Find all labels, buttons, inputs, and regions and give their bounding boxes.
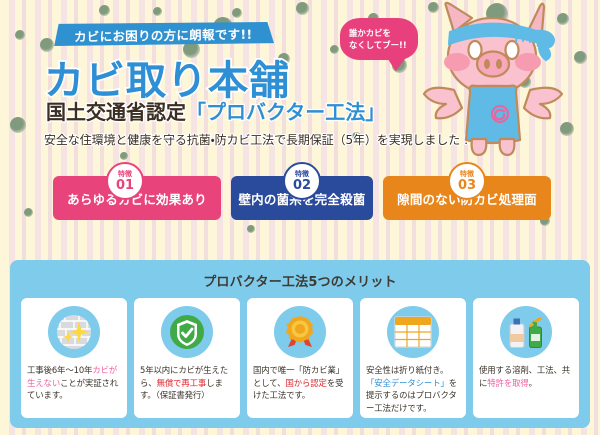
mold-spot — [24, 208, 33, 217]
merit-text-highlight: 無償で再工事 — [157, 378, 207, 388]
hero-ribbon: カビにお困りの方に朗報です!! — [52, 22, 274, 46]
merit-card[interactable]: 国内で唯一「防カビ業」として、国から認定を受けた工法です。 — [247, 298, 353, 418]
speech-bubble-line-2: なくしてブー!! — [349, 39, 407, 51]
merit-text: 国内で唯一「防カビ業」として、国から認定を受けた工法です。 — [253, 364, 347, 402]
mold-spot — [15, 30, 25, 40]
merit-card[interactable]: 使用する溶剤、工法、共に特許を取得。 — [473, 298, 579, 418]
brick-wall-sparkle-icon — [48, 306, 100, 358]
feature-badge-word-01: 特徴 — [118, 171, 132, 178]
pig-mascot-icon — [420, 0, 570, 158]
feature-box-01[interactable]: 特徴 01 あらゆるカビに効果あり — [53, 176, 221, 220]
merits-panel: プロバクター工法5つのメリット — [10, 260, 590, 428]
mold-spot — [99, 5, 110, 16]
feature-badge-number-01: 01 — [116, 179, 134, 192]
mold-spot — [120, 152, 128, 160]
feature-badge-01: 特徴 01 — [106, 162, 144, 200]
merit-text-part: 工事後6年〜10年 — [27, 365, 92, 375]
mold-spot — [153, 7, 162, 16]
feature-box-03[interactable]: 特徴 03 隙間のない防カビ処理面 — [383, 176, 551, 220]
merit-text-highlight: 国から認定 — [285, 378, 326, 388]
merit-text: 使用する溶剤、工法、共に特許を取得。 — [479, 364, 573, 389]
ribbon-shape: カビにお困りの方に朗報です!! — [52, 22, 274, 46]
mold-spot — [232, 8, 242, 18]
merit-card[interactable]: 工事後6年〜10年カビが生えないことが実証されています。 — [21, 298, 127, 418]
feature-badge-number-02: 02 — [293, 179, 311, 192]
lead-copy: 安全な住環境と健康を守る抗菌・防カビ工法で長期保証（5年）を実現しました！ — [44, 131, 472, 148]
merit-card[interactable]: 5年以内にカビが生えたら、無償で再工事します。（保証書発行） — [134, 298, 240, 418]
speech-bubble-line-1: 誰かカビを — [349, 27, 391, 39]
sub-title: 国土交通省認定「プロバクター工法」 — [46, 96, 385, 125]
feature-box-02[interactable]: 特徴 02 壁内の菌糸を完全殺菌 — [231, 176, 373, 220]
ribbon-text: カビにお困りの方に朗報です!! — [74, 23, 253, 45]
merit-text-part: 。 — [529, 378, 537, 388]
feature-badge-02: 特徴 02 — [283, 162, 321, 200]
mold-spot — [296, 2, 309, 15]
page-background: カビにお困りの方に朗報です!! カビ取り本舗 国土交通省認定「プロバクター工法」… — [0, 0, 600, 435]
green-shield-check-icon — [161, 306, 213, 358]
feature-badge-number-03: 03 — [458, 179, 476, 192]
merit-card-list: 工事後6年〜10年カビが生えないことが実証されています。 5年以内にカビが生えた… — [21, 298, 579, 418]
feature-badge-03: 特徴 03 — [448, 162, 486, 200]
merit-text: 工事後6年〜10年カビが生えないことが実証されています。 — [27, 364, 121, 402]
merit-text-highlight: 特許を取得 — [487, 378, 528, 388]
sub-title-blue: 「プロバクター工法」 — [186, 100, 385, 124]
detergent-spray-bottle-icon — [500, 306, 552, 358]
merit-text-part: 安全性は折り紙付き。 — [366, 365, 448, 375]
data-sheet-table-icon — [387, 306, 439, 358]
merit-text: 5年以内にカビが生えたら、無償で再工事します。（保証書発行） — [140, 364, 234, 402]
feature-badge-word-03: 特徴 — [460, 171, 474, 178]
merit-text: 安全性は折り紙付き。「安全データシート」を提示するのはプロバクター工法だけです。 — [366, 364, 460, 414]
mold-spot — [10, 117, 26, 133]
merit-text-highlight: 「安全データシート」 — [366, 378, 449, 388]
mold-spot — [247, 225, 255, 233]
merit-card[interactable]: 安全性は折り紙付き。「安全データシート」を提示するのはプロバクター工法だけです。 — [360, 298, 466, 418]
mold-spot — [574, 51, 587, 64]
speech-bubble: 誰かカビを なくしてブー!! — [340, 18, 418, 60]
merits-title: プロバクター工法5つのメリット — [10, 260, 590, 290]
sub-title-dark: 国土交通省認定 — [46, 100, 186, 124]
mold-spot — [330, 45, 339, 54]
feature-badge-word-02: 特徴 — [295, 171, 309, 178]
gold-award-ribbon-icon — [274, 306, 326, 358]
